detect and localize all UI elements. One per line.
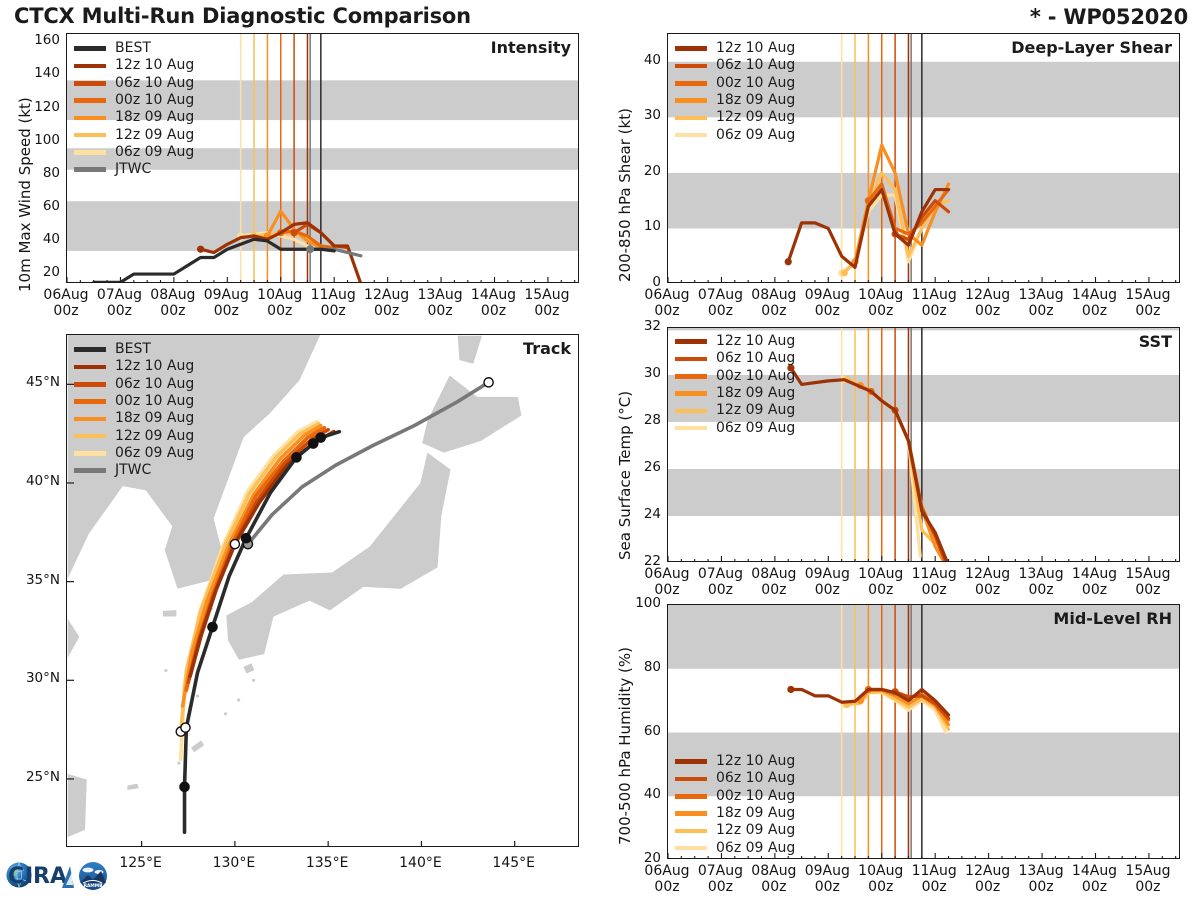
tick-hour: 00z [512, 303, 582, 319]
axis-tick-label: 40 [611, 786, 661, 802]
series-start-marker [785, 258, 792, 265]
legend-item: 06z 09 Aug [74, 144, 194, 161]
legend-item: 06z 09 Aug [675, 839, 795, 856]
legend-swatch-icon [675, 846, 707, 851]
axis-tick-label: 100 [10, 132, 60, 148]
legend-item: 12z 10 Aug [74, 57, 194, 74]
shear-legend: 12z 10 Aug06z 10 Aug00z 10 Aug18z 09 Aug… [675, 40, 795, 144]
legend-swatch-icon [675, 98, 707, 103]
track-panel-title: Track [523, 339, 571, 358]
legend-label: 12z 10 Aug [115, 358, 194, 375]
track-lon-tick: 135°E [292, 855, 362, 871]
legend-label: 00z 10 Aug [115, 92, 194, 109]
axis-tick-label: 120 [10, 99, 60, 115]
axis-tick-label: 60 [611, 723, 661, 739]
legend-label: 06z 10 Aug [716, 350, 795, 367]
rh-plot: Mid-Level RH 12z 10 Aug06z 10 Aug00z 10 … [667, 604, 1180, 859]
intensity-legend: BEST12z 10 Aug06z 10 Aug00z 10 Aug18z 09… [74, 40, 194, 178]
legend-swatch-icon [74, 81, 106, 86]
legend-item: 18z 09 Aug [74, 109, 194, 126]
axis-tick-label: 24 [611, 506, 661, 522]
track-point-marker [292, 453, 301, 462]
legend-label: 06z 10 Aug [115, 376, 194, 393]
legend-label: 18z 09 Aug [115, 109, 194, 126]
shear-panel-title: Deep-Layer Shear [1011, 38, 1172, 57]
legend-item: 12z 10 Aug [74, 358, 194, 375]
legend-swatch-icon [74, 434, 106, 439]
legend-label: 12z 10 Aug [716, 753, 795, 770]
tick-date: 15Aug [1113, 287, 1183, 303]
track-lat-tick: 35°N [4, 572, 60, 588]
legend-swatch-icon [74, 468, 106, 473]
legend-swatch-icon [675, 339, 707, 344]
legend-label: 18z 09 Aug [716, 92, 795, 109]
shear-plot: Deep-Layer Shear 12z 10 Aug06z 10 Aug00z… [667, 33, 1180, 283]
series-start-marker [197, 246, 204, 253]
shaded-band [668, 328, 1180, 330]
svg-text:I: I [25, 864, 32, 889]
legend-item: 06z 10 Aug [74, 75, 194, 92]
legend-item: 12z 09 Aug [675, 402, 795, 419]
track-point-marker [181, 723, 190, 732]
track-lon-tick: 140°E [385, 855, 455, 871]
legend-item: 12z 09 Aug [675, 109, 795, 126]
legend-label: 06z 10 Aug [716, 57, 795, 74]
intensity-plot: Intensity BEST12z 10 Aug06z 10 Aug00z 10… [66, 33, 579, 283]
legend-swatch-icon [675, 777, 707, 782]
small-island [252, 679, 255, 682]
legend-label: JTWC [115, 462, 151, 479]
small-island [237, 698, 240, 701]
legend-item: 12z 10 Aug [675, 40, 795, 57]
legend-item: BEST [74, 341, 194, 358]
legend-item: 18z 09 Aug [675, 92, 795, 109]
time-axis-tick: 15Aug00z [1113, 863, 1183, 895]
legend-label: 00z 10 Aug [716, 788, 795, 805]
legend-swatch-icon [675, 811, 707, 816]
track-lat-tick: 45°N [4, 374, 60, 390]
legend-label: 12z 10 Aug [716, 333, 795, 350]
legend-item: 12z 10 Aug [675, 753, 795, 770]
legend-item: 18z 09 Aug [675, 385, 795, 402]
svg-text:RAMMB: RAMMB [84, 883, 104, 889]
track-point-marker [241, 534, 250, 543]
legend-item: 06z 10 Aug [74, 376, 194, 393]
legend-item: 00z 10 Aug [74, 393, 194, 410]
legend-swatch-icon [675, 794, 707, 799]
legend-label: 00z 10 Aug [115, 393, 194, 410]
legend-label: 18z 09 Aug [115, 410, 194, 427]
legend-swatch-icon [74, 382, 106, 387]
tick-hour: 00z [1113, 582, 1183, 598]
track-legend: BEST12z 10 Aug06z 10 Aug00z 10 Aug18z 09… [74, 341, 194, 479]
time-axis-tick: 15Aug00z [512, 287, 582, 319]
rh-panel-title: Mid-Level RH [1053, 609, 1172, 628]
track-lat-tick: 40°N [4, 473, 60, 489]
small-island [164, 669, 167, 672]
tick-date: 15Aug [1113, 863, 1183, 879]
legend-swatch-icon [74, 451, 106, 456]
legend-item: 00z 10 Aug [675, 368, 795, 385]
landmass-polygon [127, 783, 140, 791]
legend-label: 06z 09 Aug [716, 420, 795, 437]
axis-tick-label: 26 [611, 459, 661, 475]
legend-item: 00z 10 Aug [675, 75, 795, 92]
legend-swatch-icon [74, 417, 106, 422]
legend-swatch-icon [74, 46, 106, 51]
legend-item: 12z 09 Aug [675, 822, 795, 839]
legend-label: 12z 10 Aug [115, 57, 194, 74]
track-point-marker [316, 433, 325, 442]
legend-label: 12z 09 Aug [115, 428, 194, 445]
axis-tick-label: 30 [611, 365, 661, 381]
legend-label: 12z 09 Aug [115, 127, 194, 144]
legend-swatch-icon [675, 829, 707, 834]
landmass-polygon [162, 609, 177, 617]
legend-swatch-icon [675, 133, 707, 138]
legend-swatch-icon [74, 116, 106, 121]
legend-swatch-icon [74, 365, 106, 370]
axis-tick-label: 80 [611, 659, 661, 675]
legend-item: 00z 10 Aug [74, 92, 194, 109]
axis-tick-label: 28 [611, 412, 661, 428]
legend-swatch-icon [675, 391, 707, 396]
legend-item: 06z 09 Aug [675, 126, 795, 143]
legend-swatch-icon [675, 374, 707, 379]
legend-label: 06z 09 Aug [115, 144, 194, 161]
legend-label: BEST [115, 341, 151, 358]
axis-tick-label: 40 [10, 231, 60, 247]
legend-label: 06z 09 Aug [115, 445, 194, 462]
tick-hour: 00z [1113, 303, 1183, 319]
cira-rammb-logo: CIRA RAMMB [4, 854, 120, 898]
legend-item: JTWC [74, 462, 194, 479]
legend-swatch-icon [675, 426, 707, 431]
legend-swatch-icon [74, 167, 106, 172]
legend-item: 00z 10 Aug [675, 788, 795, 805]
legend-swatch-icon [675, 81, 707, 86]
time-axis-tick: 15Aug00z [1113, 287, 1183, 319]
axis-tick-label: 30 [611, 107, 661, 123]
legend-swatch-icon [74, 98, 106, 103]
legend-item: JTWC [74, 161, 194, 178]
legend-item: 12z 09 Aug [74, 126, 194, 143]
track-lat-tick: 30°N [4, 670, 60, 686]
legend-item: 12z 09 Aug [74, 427, 194, 444]
rh-legend: 12z 10 Aug06z 10 Aug00z 10 Aug18z 09 Aug… [675, 753, 795, 857]
svg-text:C: C [8, 864, 23, 889]
sst-plot: SST 12z 10 Aug06z 10 Aug00z 10 Aug18z 09… [667, 327, 1180, 562]
page-title: CTCX Multi-Run Diagnostic Comparison [14, 4, 471, 28]
jtwc-start-marker [306, 245, 314, 253]
track-point-marker [484, 378, 493, 387]
svg-text:R: R [33, 864, 50, 889]
legend-label: JTWC [115, 161, 151, 178]
small-island [196, 694, 199, 697]
shaded-band [67, 201, 579, 251]
axis-tick-label: 10 [611, 218, 661, 234]
storm-id-label: * - WP052020 [1030, 5, 1188, 29]
axis-tick-label: 80 [10, 165, 60, 181]
tick-date: 15Aug [512, 287, 582, 303]
legend-label: 18z 09 Aug [716, 385, 795, 402]
legend-label: 06z 10 Aug [115, 75, 194, 92]
legend-swatch-icon [74, 347, 106, 352]
legend-label: 12z 09 Aug [716, 109, 795, 126]
legend-swatch-icon [675, 409, 707, 414]
legend-label: 00z 10 Aug [716, 75, 795, 92]
legend-swatch-icon [74, 133, 106, 138]
legend-item: 06z 10 Aug [675, 57, 795, 74]
tick-hour: 00z [1113, 879, 1183, 895]
intensity-y-axis-label: 10m Max Wind Speed (kt) [16, 97, 34, 292]
series-start-marker [291, 229, 298, 236]
track-lon-tick: 145°E [479, 855, 549, 871]
axis-tick-label: 20 [611, 163, 661, 179]
legend-item: 06z 10 Aug [675, 770, 795, 787]
legend-swatch-icon [74, 64, 106, 69]
axis-tick-label: 32 [611, 318, 661, 334]
legend-swatch-icon [675, 759, 707, 764]
landmass-polygon [67, 773, 88, 838]
shear-y-axis-label: 200-850 hPa Shear (kt) [616, 108, 634, 282]
axis-tick-label: 60 [10, 198, 60, 214]
track-map-plot: Track BEST12z 10 Aug06z 10 Aug00z 10 Aug… [66, 334, 579, 847]
legend-label: 18z 09 Aug [716, 805, 795, 822]
legend-label: 12z 10 Aug [716, 40, 795, 57]
axis-tick-label: 20 [10, 264, 60, 280]
legend-label: 00z 10 Aug [716, 368, 795, 385]
legend-item: 18z 09 Aug [74, 410, 194, 427]
small-island [224, 712, 227, 715]
intensity-panel-title: Intensity [491, 38, 571, 57]
legend-item: 18z 09 Aug [675, 805, 795, 822]
small-island [177, 762, 180, 765]
legend-swatch-icon [74, 399, 106, 404]
rh-y-axis-label: 700-500 hPa Humidity (%) [616, 647, 634, 845]
track-point-marker [208, 622, 217, 631]
legend-item: 06z 09 Aug [74, 445, 194, 462]
series-start-marker [841, 269, 848, 276]
legend-label: BEST [115, 40, 151, 57]
axis-tick-label: 40 [611, 52, 661, 68]
legend-item: 06z 10 Aug [675, 350, 795, 367]
legend-swatch-icon [74, 150, 106, 155]
track-point-marker [230, 540, 239, 549]
legend-label: 06z 09 Aug [716, 127, 795, 144]
legend-swatch-icon [675, 64, 707, 69]
tick-date: 15Aug [1113, 566, 1183, 582]
legend-label: 06z 09 Aug [716, 840, 795, 857]
legend-swatch-icon [675, 46, 707, 51]
legend-item: 06z 09 Aug [675, 419, 795, 436]
series-start-marker [787, 686, 794, 693]
sst-panel-title: SST [1139, 332, 1172, 351]
axis-tick-label: 100 [611, 595, 661, 611]
legend-label: 06z 10 Aug [716, 770, 795, 787]
legend-swatch-icon [675, 357, 707, 362]
legend-label: 12z 09 Aug [716, 822, 795, 839]
legend-swatch-icon [675, 116, 707, 121]
legend-label: 12z 09 Aug [716, 402, 795, 419]
track-lat-tick: 25°N [4, 769, 60, 785]
time-axis-tick: 15Aug00z [1113, 566, 1183, 598]
track-lon-tick: 130°E [199, 855, 269, 871]
legend-item: 12z 10 Aug [675, 333, 795, 350]
sst-legend: 12z 10 Aug06z 10 Aug00z 10 Aug18z 09 Aug… [675, 333, 795, 437]
track-point-marker [180, 782, 189, 791]
legend-item: BEST [74, 40, 194, 57]
axis-tick-label: 160 [10, 32, 60, 48]
axis-tick-label: 140 [10, 65, 60, 81]
